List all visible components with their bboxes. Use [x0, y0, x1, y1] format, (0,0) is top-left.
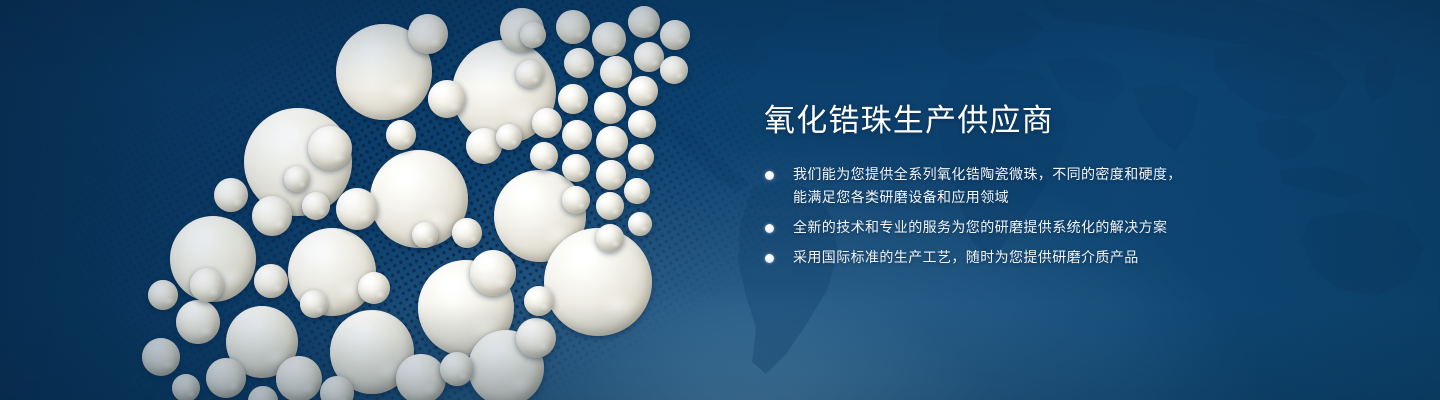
hero-banner: 氧化锆珠生产供应商 我们能为您提供全系列氧化锆陶瓷微珠，不同的密度和硬度， 能满…	[0, 0, 1440, 400]
edge-vignette	[0, 0, 1440, 400]
